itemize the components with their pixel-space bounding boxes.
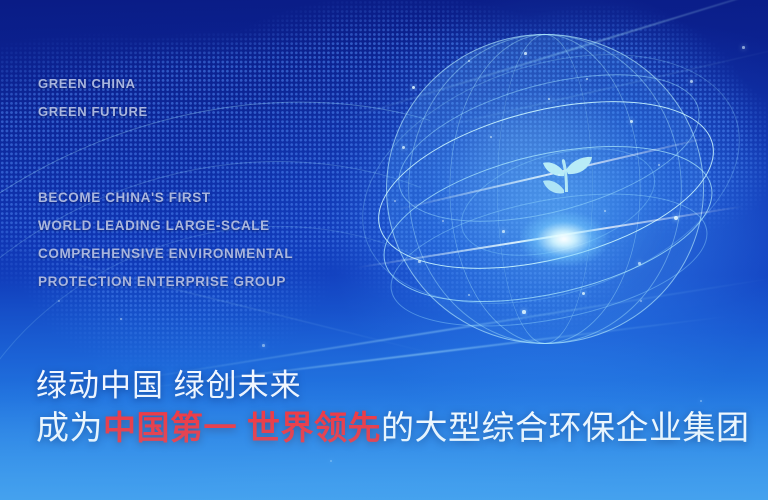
particle-dot [604,210,606,212]
particle-dot [468,294,470,296]
particle-dot [522,310,526,314]
headline-suffix: 的大型综合环保企业集团 [381,409,750,446]
particle-dot [330,460,332,462]
particle-dot [468,60,470,62]
particle-dot [640,300,642,302]
particle-dot [742,46,745,49]
particle-dot [548,98,550,100]
tagline-line: GREEN FUTURE [38,98,148,126]
particle-dot [58,300,60,302]
particle-dot [690,80,693,83]
particle-dot [442,220,444,222]
particle-dot [262,344,265,347]
headline-block: 绿动中国 绿创未来 成为中国第一世界领先的大型综合环保企业集团 [36,366,750,450]
particle-dot [630,120,633,123]
particle-dot [558,174,560,176]
tagline-line: GREEN CHINA [38,70,148,98]
particle-dot [658,164,660,166]
headline-line-2: 成为中国第一世界领先的大型综合环保企业集团 [36,406,750,450]
particle-dot [502,230,505,233]
headline-line-1: 绿动中国 绿创未来 [36,366,750,406]
tagline-block: GREEN CHINA GREEN FUTURE [38,70,148,126]
particle-dot [402,146,405,149]
mission-line: COMPREHENSIVE ENVIRONMENTAL [38,240,293,268]
headline-prefix: 成为 [36,409,103,446]
headline-highlight-first: 中国第一 [103,409,237,446]
particle-dot [524,52,527,55]
wireframe-globe [372,24,724,354]
mission-statement-block: BECOME CHINA'S FIRST WORLD LEADING LARGE… [38,184,293,296]
headline-highlight-second: 世界领先 [247,409,381,446]
mission-line: WORLD LEADING LARGE-SCALE [38,212,293,240]
mission-line: PROTECTION ENTERPRISE GROUP [38,268,293,296]
globe-core-glow [520,212,608,266]
particle-dot [586,78,588,80]
eco-corporate-banner: GREEN CHINA GREEN FUTURE BECOME CHINA'S … [0,0,768,500]
particle-dot [412,86,415,89]
particle-dot [394,200,396,202]
particle-dot [490,136,492,138]
particle-dot [120,318,122,320]
particle-dot [674,216,678,220]
particle-dot [418,260,421,263]
mission-line: BECOME CHINA'S FIRST [38,184,293,212]
particle-dot [582,292,585,295]
particle-dot [638,262,641,265]
